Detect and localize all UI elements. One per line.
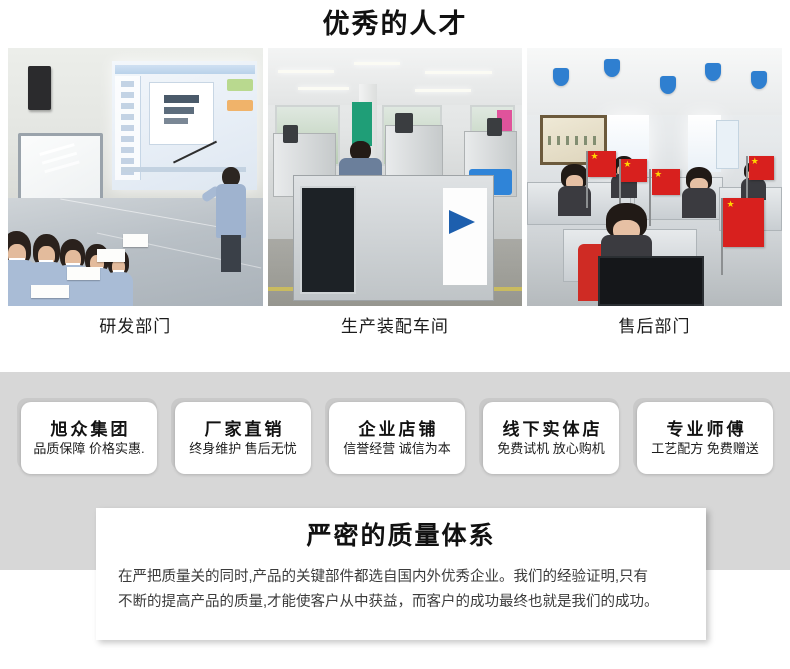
- badge-title: 旭众集团: [48, 421, 131, 438]
- photo-caption-rd: 研发部门: [8, 312, 263, 337]
- china-flag-icon: [652, 169, 680, 195]
- quality-system-panel: 严密的质量体系 在严把质量关的同时,产品的关键部件都选自国内外优秀企业。我们的经…: [96, 508, 706, 640]
- whiteboard: [18, 133, 103, 206]
- ceiling: [268, 48, 523, 105]
- screen-toolbar: [115, 65, 254, 74]
- china-flag-icon: [723, 198, 764, 247]
- feature-badge-row: 旭众集团 品质保障 价格实惠. 厂家直销 终身维护 售后无忧 企业店铺 信誉经营…: [0, 398, 790, 470]
- presenter-person: [214, 167, 247, 270]
- screen-orange-button: [227, 100, 253, 112]
- photo-meeting-room: [8, 48, 263, 306]
- ceiling: [527, 48, 782, 115]
- machine-head: [395, 113, 413, 134]
- quality-body-line-2: 不断的提高产品的质量,才能使客户从中获益，而客户的成功最终也就是我们的成功。: [118, 590, 684, 615]
- green-banner: [352, 102, 372, 146]
- badge-professional-master[interactable]: 专业师傅 工艺配方 免费赠送: [633, 398, 773, 470]
- badge-group[interactable]: 旭众集团 品质保障 价格实惠.: [17, 398, 157, 470]
- photo-caption-workshop: 生产装配车间: [268, 312, 523, 337]
- badge-subtitle: 工艺配方 免费赠送: [651, 442, 759, 455]
- china-flag-icon: [621, 159, 646, 182]
- machine-head: [283, 125, 298, 143]
- quality-body-line-1: 在严把质量关的同时,产品的关键部件都选自国内外优秀企业。我们的经验证明,只有: [118, 565, 684, 590]
- badge-subtitle: 品质保障 价格实惠.: [33, 442, 144, 455]
- notebook: [97, 249, 125, 262]
- control-panel: [300, 186, 356, 294]
- badge-title: 专业师傅: [664, 421, 747, 438]
- photo-gallery: [8, 48, 782, 306]
- wall-poster: [716, 120, 738, 168]
- photo-call-center: [527, 48, 782, 306]
- badge-subtitle: 终身维护 售后无忧: [189, 442, 297, 455]
- china-flag-icon: [588, 151, 616, 177]
- foreground-machine: [293, 175, 494, 301]
- brand-logo-icon: [443, 188, 487, 285]
- notebook: [123, 234, 148, 247]
- notebook: [67, 267, 100, 280]
- badge-offline-store[interactable]: 线下实体店 免费试机 放心购机: [479, 398, 619, 470]
- notebook: [31, 285, 69, 298]
- badge-title: 线下实体店: [500, 421, 603, 438]
- page-title: 优秀的人才: [0, 0, 790, 34]
- photo-captions: 研发部门 生产装配车间 售后部门: [8, 312, 782, 337]
- badge-title: 企业店铺: [356, 421, 439, 438]
- screen-document: [149, 82, 215, 146]
- photo-assembly-workshop: [268, 48, 523, 306]
- screen-green-button: [227, 79, 253, 91]
- china-flag-icon: [749, 156, 774, 179]
- badge-enterprise-store[interactable]: 企业店铺 信誉经营 诚信为本: [325, 398, 465, 470]
- badge-factory-direct[interactable]: 厂家直销 终身维护 售后无忧: [171, 398, 311, 470]
- screen-sidebar: [115, 76, 141, 179]
- staff-person: [682, 167, 715, 219]
- speaker-icon: [28, 66, 51, 110]
- badge-subtitle: 信誉经营 诚信为本: [343, 442, 451, 455]
- quality-body: 在严把质量关的同时,产品的关键部件都选自国内外优秀企业。我们的经验证明,只有 不…: [118, 565, 684, 616]
- photo-caption-aftersales: 售后部门: [527, 312, 782, 337]
- quality-title: 严密的质量体系: [96, 508, 706, 549]
- badge-title: 厂家直销: [202, 421, 285, 438]
- computer-monitor: [598, 256, 704, 306]
- machine-head: [487, 118, 502, 136]
- badge-subtitle: 免费试机 放心购机: [497, 442, 605, 455]
